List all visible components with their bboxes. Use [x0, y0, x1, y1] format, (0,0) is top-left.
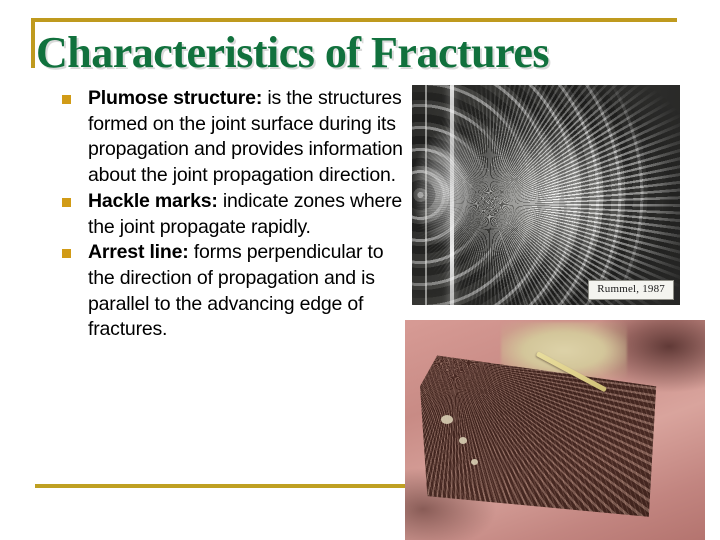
hackle-marks-photo [405, 320, 705, 540]
page-title: Characteristics of Fractures [36, 27, 700, 79]
list-item: Plumose structure: is the structures for… [60, 86, 405, 189]
bullet-term: Plumose structure: [88, 87, 262, 109]
lichen-spot [441, 415, 453, 424]
list-item: Arrest line: forms perpendicular to the … [60, 240, 405, 343]
frame-left-rule [31, 18, 35, 68]
lichen-spot [459, 437, 467, 444]
lichen-spot [471, 459, 478, 465]
bullet-term: Arrest line: [88, 241, 189, 263]
square-bullet-icon [62, 249, 71, 258]
bullet-list: Plumose structure: is the structures for… [60, 86, 405, 343]
plumose-structure-photo: Rummel, 1987 [412, 85, 680, 305]
square-bullet-icon [62, 198, 71, 207]
plume-rays-layer [417, 85, 680, 305]
square-bullet-icon [62, 95, 71, 104]
slide-canvas: Characteristics of Fractures Plumose str… [0, 0, 720, 540]
frame-top-rule [31, 18, 677, 22]
photo-core-streak [450, 85, 454, 305]
bullet-term: Hackle marks: [88, 190, 218, 212]
list-item: Hackle marks: indicate zones where the j… [60, 189, 405, 240]
photo-edge-streak [425, 85, 427, 305]
photo-credit-label: Rummel, 1987 [588, 280, 674, 300]
frame-bottom-rule [35, 484, 405, 488]
